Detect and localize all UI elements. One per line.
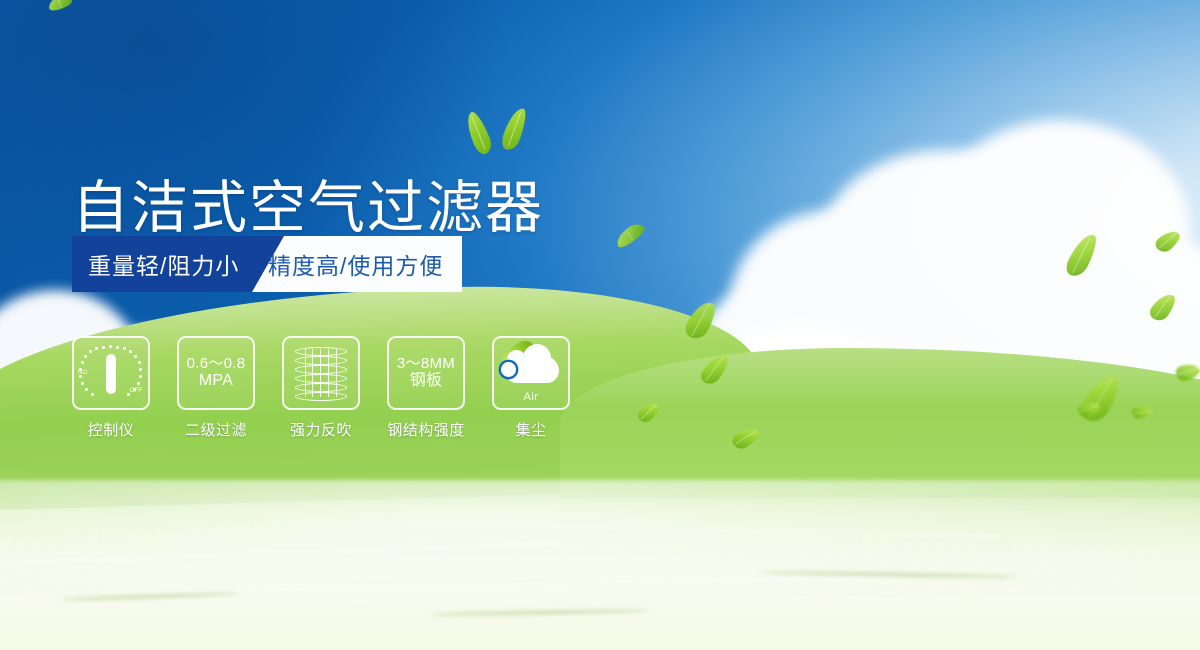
feature-item-controller[interactable]: NO OFF 控制仪 bbox=[72, 336, 150, 440]
product-banner: 自洁式空气过滤器 重量轻/阻力小 精度高/使用方便 bbox=[0, 0, 1200, 650]
feature-caption: 集尘 bbox=[515, 419, 546, 440]
leaf-icon bbox=[462, 109, 494, 156]
feature-icon-box bbox=[282, 336, 360, 410]
gauge-label-off: OFF bbox=[130, 388, 143, 394]
feature-icon-box: 0.6～0.8 MPA bbox=[177, 336, 255, 410]
gauge-needle bbox=[106, 354, 116, 394]
feature-list: NO OFF 控制仪 0.6～0.8 MPA 二级过滤 bbox=[72, 336, 570, 440]
grass-foreground-path bbox=[0, 480, 1200, 650]
pressure-text-icon: 0.6～0.8 MPA bbox=[187, 355, 246, 392]
air-label: Air bbox=[499, 391, 563, 403]
coil-cartridge-icon bbox=[295, 345, 347, 401]
leaf-icon bbox=[499, 105, 530, 152]
steel-plate-text-icon: 3～8MM 钢板 bbox=[397, 355, 455, 392]
grass-hill-right bbox=[560, 348, 1200, 498]
pressure-unit: MPA bbox=[187, 372, 246, 391]
gauge-dial-icon: NO OFF bbox=[80, 344, 142, 402]
feature-caption: 钢结构强度 bbox=[387, 419, 465, 440]
feature-item-dust-collection[interactable]: Air 集尘 bbox=[492, 336, 570, 440]
page-title: 自洁式空气过滤器 bbox=[72, 180, 544, 237]
steel-thickness: 3～8MM bbox=[397, 355, 455, 373]
feature-icon-box: NO OFF bbox=[72, 336, 150, 410]
steel-material: 钢板 bbox=[397, 372, 455, 391]
feature-item-strong-backflush[interactable]: 强力反吹 bbox=[282, 336, 360, 440]
feature-caption: 控制仪 bbox=[88, 419, 135, 440]
cloud-air-icon: Air bbox=[499, 344, 563, 402]
pressure-range: 0.6～0.8 bbox=[187, 355, 246, 373]
feature-icon-box: 3～8MM 钢板 bbox=[387, 336, 465, 410]
gauge-label-no: NO bbox=[78, 370, 88, 376]
feature-caption: 强力反吹 bbox=[290, 419, 352, 440]
feature-caption: 二级过滤 bbox=[185, 419, 247, 440]
feature-item-two-stage-filter[interactable]: 0.6～0.8 MPA 二级过滤 bbox=[177, 336, 255, 440]
title-leaf-pair bbox=[466, 105, 536, 163]
cloud-bubble bbox=[501, 362, 516, 377]
subtitle-left-text: 重量轻/阻力小 bbox=[88, 236, 239, 292]
feature-item-steel-structure[interactable]: 3～8MM 钢板 钢结构强度 bbox=[387, 336, 465, 440]
feature-icon-box: Air bbox=[492, 336, 570, 410]
subtitle-right-text: 精度高/使用方便 bbox=[268, 236, 443, 292]
